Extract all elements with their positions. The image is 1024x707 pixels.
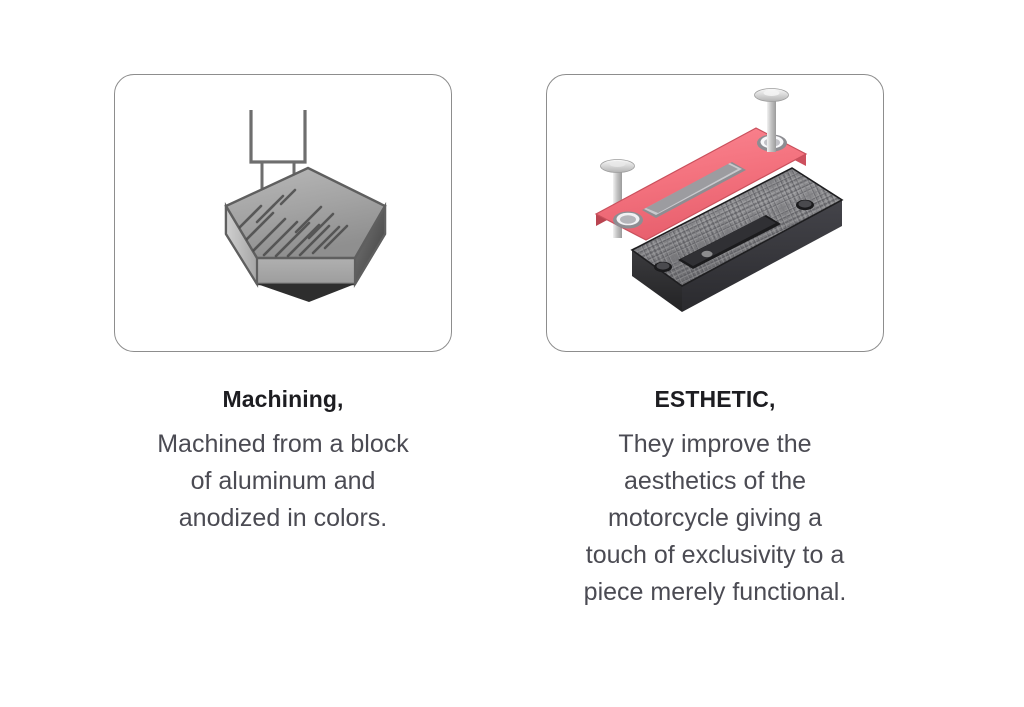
card-title-machining: Machining, xyxy=(222,386,343,414)
body-line: motorcycle giving a xyxy=(525,500,905,537)
icon-card-machining[interactable] xyxy=(114,74,452,352)
card-body-esthetic: They improve the aesthetics of the motor… xyxy=(525,426,905,611)
feature-card-esthetic: ESTHETIC, They improve the aesthetics of… xyxy=(545,74,885,611)
icon-card-esthetic[interactable] xyxy=(546,74,884,352)
page-root: Machining, Machined from a block of alum… xyxy=(0,0,1024,707)
body-line: touch of exclusivity to a xyxy=(525,537,905,574)
cnc-milling-machine-icon xyxy=(133,88,433,338)
body-line: They improve the xyxy=(525,426,905,463)
card-body-machining: Machined from a block of aluminum and an… xyxy=(103,426,463,537)
spindle-holder xyxy=(251,110,305,162)
body-line: aesthetics of the xyxy=(525,463,905,500)
body-line: of aluminum and xyxy=(103,463,463,500)
feature-card-machining: Machining, Machined from a block of alum… xyxy=(113,74,453,537)
body-line: anodized in colors. xyxy=(103,500,463,537)
screw-right-shaft xyxy=(767,94,776,152)
card-title-esthetic: ESTHETIC, xyxy=(654,386,775,414)
feature-columns: Machining, Machined from a block of alum… xyxy=(0,0,1024,707)
block-shadow-tip xyxy=(257,284,355,302)
motorcycle-bracket-icon xyxy=(560,82,870,344)
block-top-face xyxy=(226,168,385,258)
body-line: Machined from a block xyxy=(103,426,463,463)
body-line: piece merely functional. xyxy=(525,574,905,611)
